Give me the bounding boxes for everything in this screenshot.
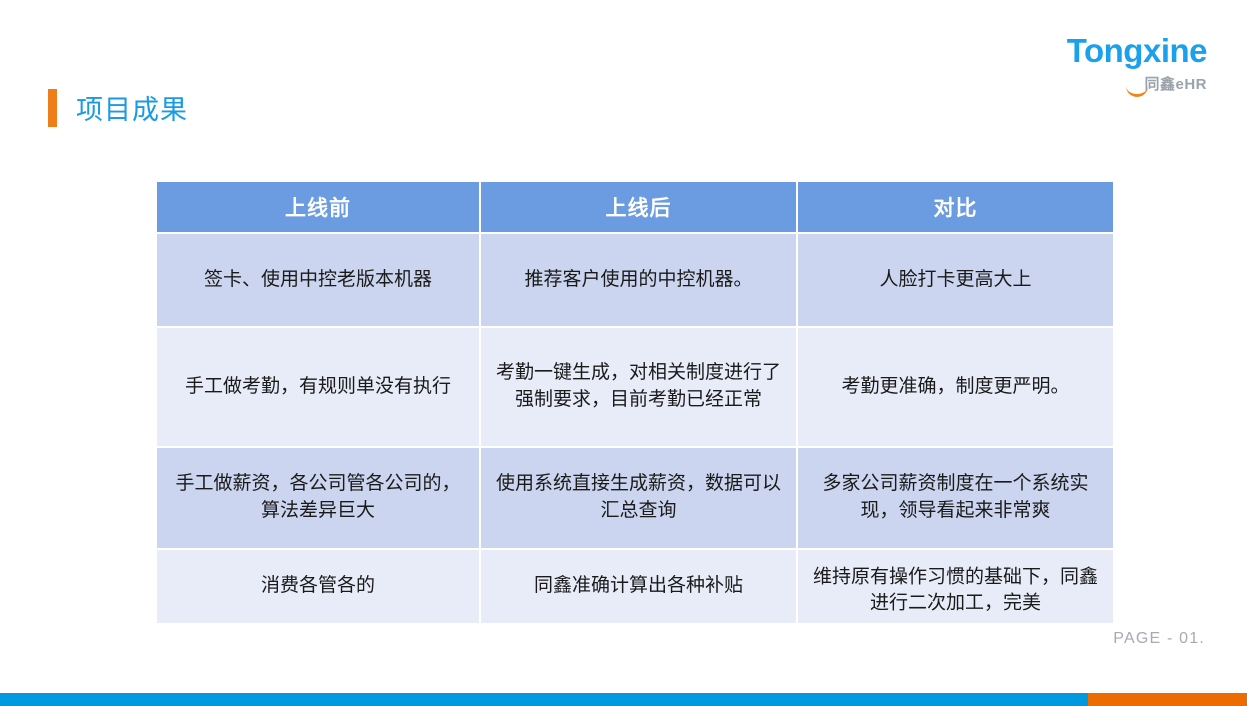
column-header-after: 上线后 xyxy=(481,182,796,232)
cell-before: 手工做薪资，各公司管各公司的，算法差异巨大 xyxy=(157,448,479,548)
footer-bar-blue xyxy=(0,693,1088,706)
page-number: PAGE - 01. xyxy=(1113,630,1205,648)
table-row: 手工做考勤，有规则单没有执行 考勤一键生成，对相关制度进行了强制要求，目前考勤已… xyxy=(157,328,1113,446)
footer-bar-orange xyxy=(1088,693,1247,706)
cell-after: 考勤一键生成，对相关制度进行了强制要求，目前考勤已经正常 xyxy=(481,328,796,446)
cell-after: 使用系统直接生成薪资，数据可以汇总查询 xyxy=(481,448,796,548)
footer-bar xyxy=(0,693,1247,706)
cell-compare: 多家公司薪资制度在一个系统实现，领导看起来非常爽 xyxy=(798,448,1113,548)
page-title: 项目成果 xyxy=(48,88,188,127)
logo-smile-icon xyxy=(1126,83,1148,97)
brand-logo: Tongxine 同鑫eHR xyxy=(1067,34,1207,92)
title-text: 项目成果 xyxy=(76,88,188,127)
table-row: 签卡、使用中控老版本机器 推荐客户使用的中控机器。 人脸打卡更高大上 xyxy=(157,234,1113,326)
cell-compare-text: 维持原有操作习惯的基础下，同鑫进行二次加工，完美 xyxy=(804,564,1107,618)
cell-compare: 考勤更准确，制度更严明。 xyxy=(798,328,1113,446)
cell-before: 手工做考勤，有规则单没有执行 xyxy=(157,328,479,446)
cell-after: 同鑫准确计算出各种补贴 xyxy=(481,550,796,623)
table-row: 消费各管各的 同鑫准确计算出各种补贴 维持原有操作习惯的基础下，同鑫进行二次加工… xyxy=(157,550,1113,623)
title-accent-bar xyxy=(48,89,57,127)
table-row: 手工做薪资，各公司管各公司的，算法差异巨大 使用系统直接生成薪资，数据可以汇总查… xyxy=(157,448,1113,548)
cell-before: 消费各管各的 xyxy=(157,550,479,623)
column-header-before: 上线前 xyxy=(157,182,479,232)
column-header-compare: 对比 xyxy=(798,182,1113,232)
cell-compare: 人脸打卡更高大上 xyxy=(798,234,1113,326)
table-header-row: 上线前 上线后 对比 xyxy=(157,182,1113,232)
cell-compare: 维持原有操作习惯的基础下，同鑫进行二次加工，完美 xyxy=(798,550,1113,623)
comparison-table: 上线前 上线后 对比 签卡、使用中控老版本机器 推荐客户使用的中控机器。 人脸打… xyxy=(155,180,1115,625)
cell-after: 推荐客户使用的中控机器。 xyxy=(481,234,796,326)
cell-before: 签卡、使用中控老版本机器 xyxy=(157,234,479,326)
logo-wordmark: Tongxine xyxy=(1067,34,1207,67)
